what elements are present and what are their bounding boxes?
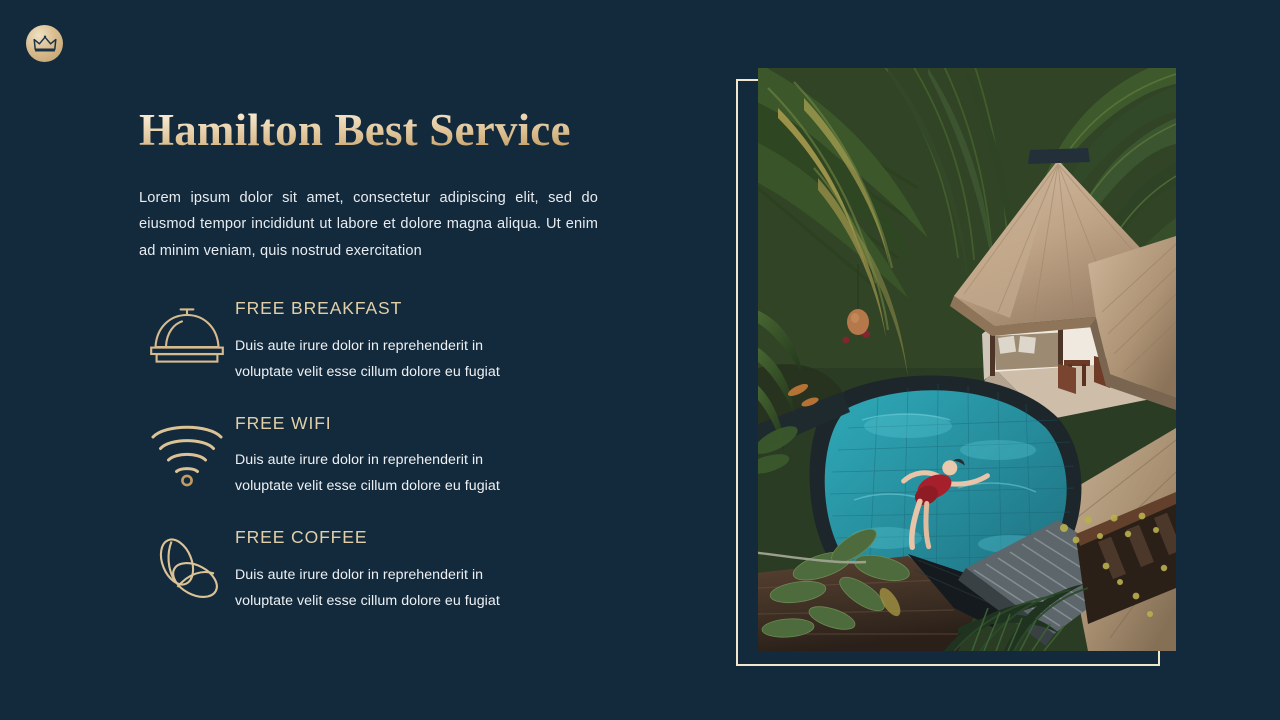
coffee-beans-icon bbox=[139, 529, 235, 607]
left-content-column: Hamilton Best Service Lorem ipsum dolor … bbox=[139, 108, 609, 614]
feature-description: Duis aute irure dolor in reprehenderit i… bbox=[235, 447, 535, 499]
feature-description: Duis aute irure dolor in reprehenderit i… bbox=[235, 562, 535, 614]
feature-list: FREE BREAKFAST Duis aute irure dolor in … bbox=[139, 300, 609, 614]
page-title: Hamilton Best Service bbox=[139, 108, 609, 154]
feature-title: FREE COFFEE bbox=[235, 529, 535, 547]
feature-title: FREE BREAKFAST bbox=[235, 300, 535, 318]
feature-text: FREE COFFEE Duis aute irure dolor in rep… bbox=[235, 529, 535, 614]
feature-text: FREE BREAKFAST Duis aute irure dolor in … bbox=[235, 300, 535, 385]
intro-paragraph: Lorem ipsum dolor sit amet, consectetur … bbox=[139, 185, 598, 265]
feature-item-free-wifi: FREE WIFI Duis aute irure dolor in repre… bbox=[139, 415, 609, 500]
feature-text: FREE WIFI Duis aute irure dolor in repre… bbox=[235, 415, 535, 500]
feature-item-free-breakfast: FREE BREAKFAST Duis aute irure dolor in … bbox=[139, 300, 609, 385]
feature-description: Duis aute irure dolor in reprehenderit i… bbox=[235, 333, 535, 385]
crown-icon bbox=[33, 35, 57, 53]
room-service-bell-icon bbox=[139, 300, 235, 368]
wifi-icon bbox=[139, 415, 235, 487]
feature-title: FREE WIFI bbox=[235, 415, 535, 433]
feature-item-free-coffee: FREE COFFEE Duis aute irure dolor in rep… bbox=[139, 529, 609, 614]
resort-pool-photo bbox=[758, 68, 1176, 651]
brand-logo bbox=[26, 25, 63, 62]
